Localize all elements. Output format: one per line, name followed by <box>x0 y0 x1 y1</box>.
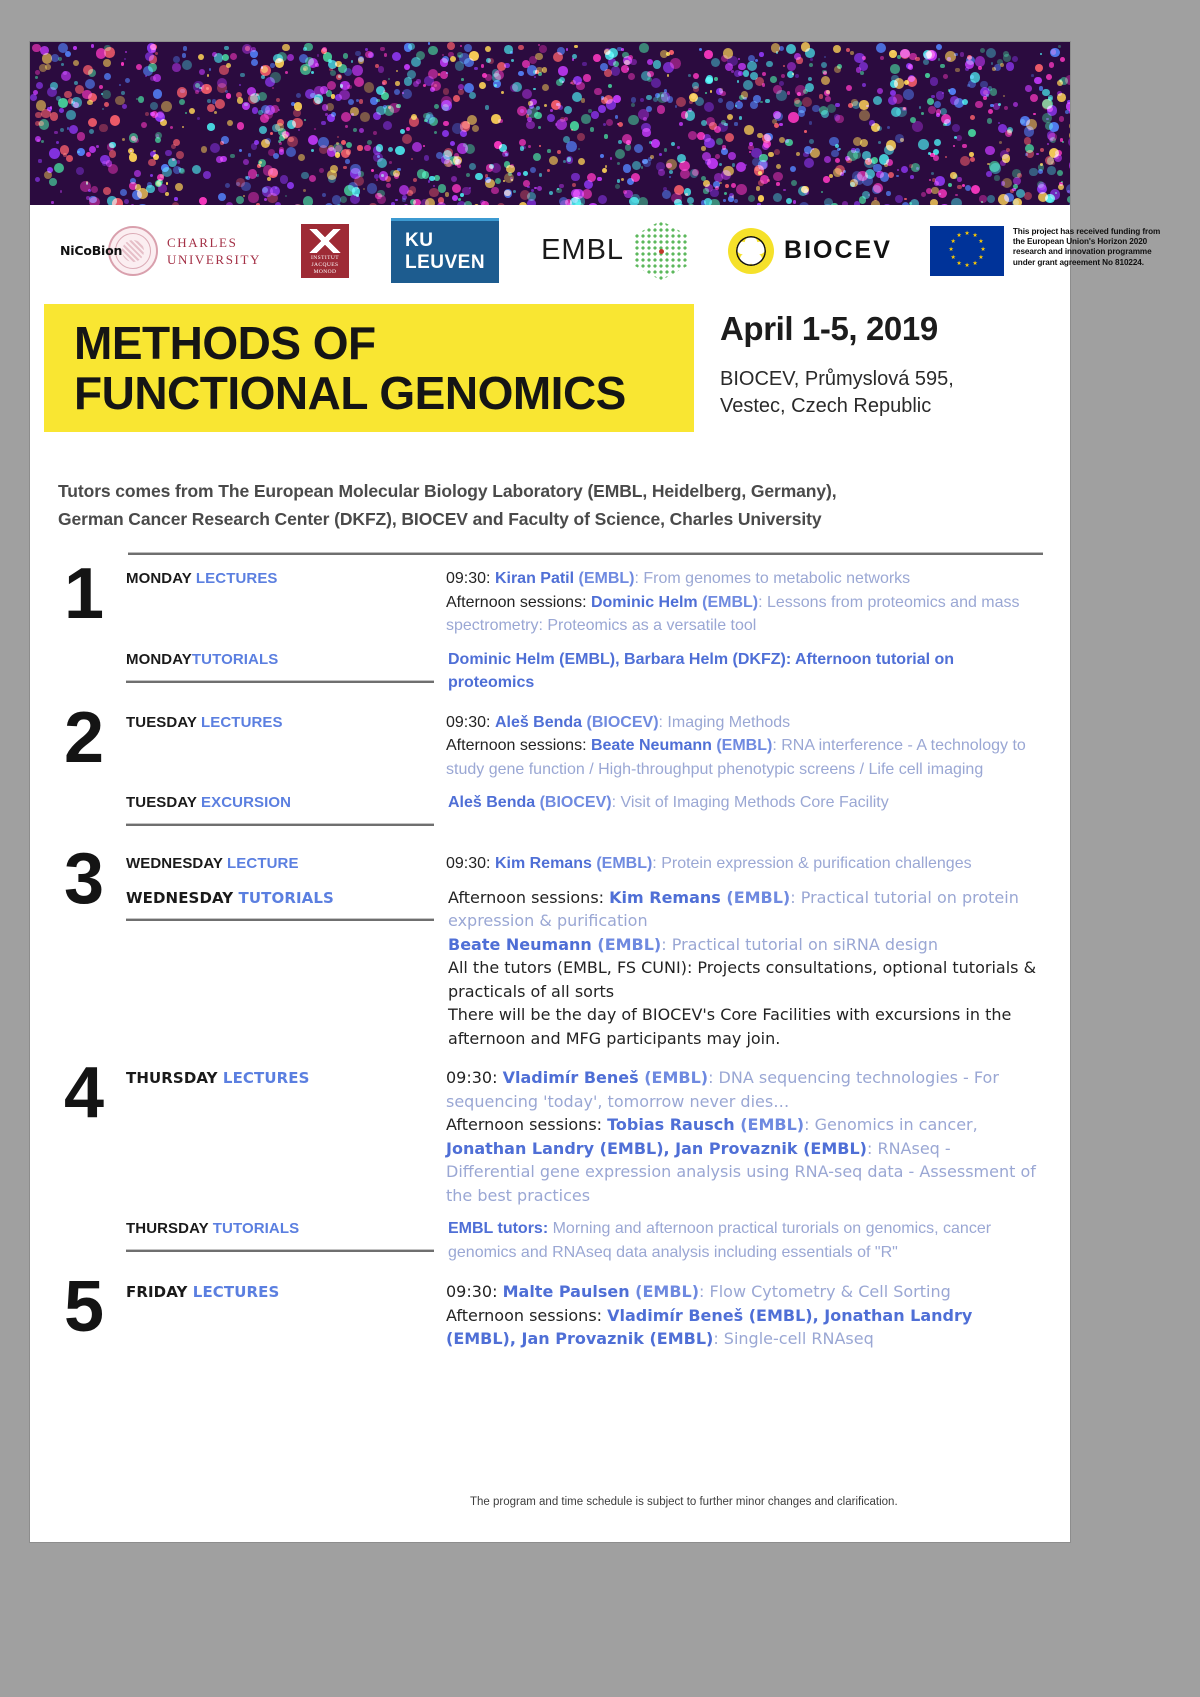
session-kind-label: LECTURES <box>201 714 283 731</box>
monod-mark-icon: INSTITUT JACQUES MONOD <box>301 224 349 278</box>
block-rule <box>126 1249 434 1252</box>
schedule-line: All the tutors (EMBL, FS CUNI): Projects… <box>448 956 1043 1003</box>
schedule-text-span: 09:30: <box>446 855 495 872</box>
schedule-text-span: Afternoon sessions: <box>446 737 591 754</box>
day-name-label: TUESDAY <box>126 794 201 811</box>
biocev-logo-text: BIOCEV <box>784 236 892 265</box>
biocev-logo: BIOCEV <box>728 228 892 274</box>
schedule-line: Dominic Helm (EMBL), Barbara Helm (DKFZ)… <box>448 648 1043 695</box>
schedule-line: Afternoon sessions: Vladimír Beneš (EMBL… <box>446 1304 1043 1351</box>
schedule-day: 3WEDNESDAY LECTURE09:30: Kim Remans (EMB… <box>58 840 1043 1054</box>
microscopy-banner-image <box>30 42 1070 205</box>
schedule-line: Afternoon sessions: Beate Neumann (EMBL)… <box>446 734 1043 781</box>
day-name-label: THURSDAY <box>126 1220 209 1237</box>
schedule-day: 1MONDAY LECTURES09:30: Kiran Patil (EMBL… <box>58 555 1043 699</box>
schedule-line: Afternoon sessions: Tobias Rausch (EMBL)… <box>446 1113 1043 1207</box>
schedule-text-span: Vladimír Beneš <box>503 1068 645 1087</box>
schedule-text-span: : Practical tutorial on siRNA design <box>661 935 938 954</box>
biocev-molecule-icon <box>728 228 774 274</box>
event-venue: BIOCEV, Průmyslová 595, Vestec, Czech Re… <box>720 366 1060 420</box>
schedule-block-body: EMBL tutors: Morning and afternoon pract… <box>448 1211 1043 1264</box>
schedule-text-span: Aleš Benda <box>448 794 540 811</box>
schedule-text-span: Malte Paulsen <box>503 1282 636 1301</box>
schedule-text-span: (EMBL) <box>716 737 772 754</box>
schedule-text-span: : Single-cell RNAseq <box>713 1329 873 1348</box>
schedule-block: THURSDAY LECTURES09:30: Vladimír Beneš (… <box>126 1060 1043 1207</box>
session-kind-label: LECTURES <box>218 1069 310 1087</box>
day-number: 1 <box>58 561 126 699</box>
monod-zigzag-icon <box>305 229 345 253</box>
schedule-text-span: : Flow Cytometry & Cell Sorting <box>699 1282 951 1301</box>
schedule-block-label: THURSDAY LECTURES <box>126 1060 446 1207</box>
schedule-block-label: THURSDAY TUTORIALS <box>126 1211 448 1264</box>
schedule-block: FRIDAY LECTURES09:30: Malte Paulsen (EMB… <box>126 1274 1043 1351</box>
block-rule <box>126 918 434 921</box>
schedule-block-label: FRIDAY LECTURES <box>126 1274 446 1351</box>
schedule-text-span: Afternoon sessions: <box>446 1115 607 1134</box>
day-number: 3 <box>58 846 126 1054</box>
schedule-line: Afternoon sessions: Dominic Helm (EMBL):… <box>446 591 1043 638</box>
charles-university-logo-text: CHARLES UNIVERSITY <box>167 234 261 268</box>
schedule-text-span: EMBL tutors: <box>448 1220 548 1237</box>
schedule-day: 5FRIDAY LECTURES09:30: Malte Paulsen (EM… <box>58 1268 1043 1355</box>
institut-jacques-monod-logo: INSTITUT JACQUES MONOD <box>301 224 349 278</box>
day-name-label: MONDAY <box>126 651 192 668</box>
day-number: 4 <box>58 1060 126 1268</box>
schedule-text-span: All the tutors (EMBL, FS CUNI): Projects… <box>448 958 1036 1001</box>
day-name-label: WEDNESDAY <box>126 855 223 872</box>
schedule-text-span: Afternoon sessions: <box>446 594 591 611</box>
page-title: METHODS OF FUNCTIONAL GENOMICS <box>44 318 626 418</box>
poster-page: NiCoBion CHARLES UNIVERSITY INSTITUT JAC… <box>30 42 1070 1542</box>
schedule-text-span: (EMBL) <box>635 1282 699 1301</box>
schedule-line: 09:30: Kim Remans (EMBL): Protein expres… <box>446 852 1043 876</box>
schedule-block-label: TUESDAY EXCURSION <box>126 785 448 836</box>
schedule-line: Beate Neumann (EMBL): Practical tutorial… <box>448 933 1043 957</box>
block-rule <box>126 680 434 683</box>
eu-funding-logo: ★★★★★★★★★★★★ This project has received f… <box>930 226 1181 276</box>
event-meta: April 1-5, 2019 BIOCEV, Průmyslová 595, … <box>720 310 1060 420</box>
schedule-text-span: (EMBL) <box>644 1068 708 1087</box>
schedule-text-span: 09:30: <box>446 570 495 587</box>
schedule-text-span: : Genomics in cancer, <box>804 1115 978 1134</box>
schedule-block-label: WEDNESDAY LECTURE <box>126 846 446 876</box>
schedule-block-body: 09:30: Malte Paulsen (EMBL): Flow Cytome… <box>446 1274 1043 1351</box>
session-kind-label: LECTURES <box>187 1283 279 1301</box>
schedule-text-span: Dominic Helm <box>591 594 702 611</box>
ku-leuven-logo: KU LEUVEN <box>391 218 499 283</box>
schedule-text-span: Kim Remans <box>609 888 726 907</box>
embl-hexagon-icon <box>634 221 688 281</box>
session-kind-label: TUTORIALS <box>233 889 334 907</box>
event-date: April 1-5, 2019 <box>720 310 1060 348</box>
partner-logo-bar: NiCoBion CHARLES UNIVERSITY INSTITUT JAC… <box>30 205 1070 296</box>
schedule-text-span: : From genomes to metabolic networks <box>635 570 911 587</box>
schedule-block: MONDAY LECTURES09:30: Kiran Patil (EMBL)… <box>126 561 1043 638</box>
embl-logo-text: EMBL <box>541 234 624 267</box>
schedule-block-body: Dominic Helm (EMBL), Barbara Helm (DKFZ)… <box>448 642 1043 695</box>
schedule-text-span: : Imaging Methods <box>659 714 791 731</box>
schedule-block-body: 09:30: Kim Remans (EMBL): Protein expres… <box>446 846 1043 876</box>
schedule-block: WEDNESDAY LECTURE09:30: Kim Remans (EMBL… <box>126 846 1043 876</box>
schedule-text-span: There will be the day of BIOCEV's Core F… <box>448 1005 1011 1048</box>
schedule-day: 2TUESDAY LECTURES09:30: Aleš Benda (BIOC… <box>58 699 1043 841</box>
session-kind-label: EXCURSION <box>201 794 291 811</box>
session-kind-label: LECTURES <box>192 570 278 587</box>
eu-flag-icon: ★★★★★★★★★★★★ <box>930 226 1004 276</box>
embl-logo: EMBL <box>541 221 688 281</box>
schedule-block: TUESDAY EXCURSIONAleš Benda (BIOCEV): Vi… <box>126 785 1043 836</box>
day-number: 2 <box>58 705 126 841</box>
schedule-text-span: (EMBL) <box>726 888 790 907</box>
session-kind-label: TUTORIALS <box>192 651 278 668</box>
schedule-block-label: MONDAYTUTORIALS <box>126 642 448 695</box>
tutors-intro: Tutors comes from The European Molecular… <box>58 477 1018 533</box>
schedule-text-span: Aleš Benda <box>495 714 587 731</box>
schedule-text-span: (BIOCEV) <box>587 714 659 731</box>
schedule-block-label: TUESDAY LECTURES <box>126 705 446 782</box>
schedule-text-span: : Visit of Imaging Methods Core Facility <box>612 794 889 811</box>
schedule-block-label: MONDAY LECTURES <box>126 561 446 638</box>
day-number: 5 <box>58 1274 126 1355</box>
schedule-text-span: Kiran Patil <box>495 570 579 587</box>
eu-funding-text: This project has received funding from t… <box>1013 226 1181 269</box>
session-kind-label: LECTURE <box>223 855 299 872</box>
schedule-block-body: 09:30: Aleš Benda (BIOCEV): Imaging Meth… <box>446 705 1043 782</box>
schedule-block-body: 09:30: Kiran Patil (EMBL): From genomes … <box>446 561 1043 638</box>
schedule-block: WEDNESDAY TUTORIALSAfternoon sessions: K… <box>126 880 1043 1051</box>
footer-disclaimer: The program and time schedule is subject… <box>470 1494 1030 1510</box>
ku-leuven-logo-text: KU LEUVEN <box>405 230 485 274</box>
schedule-text-span: Afternoon sessions: <box>448 888 609 907</box>
schedule-text-span: (EMBL) <box>579 570 635 587</box>
schedule-block-body: Aleš Benda (BIOCEV): Visit of Imaging Me… <box>448 785 1043 836</box>
charles-university-logo: CHARLES UNIVERSITY <box>108 226 261 276</box>
schedule-text-span: 09:30: <box>446 1068 503 1087</box>
schedule-text-span: (EMBL) <box>740 1115 804 1134</box>
schedule-line: 09:30: Aleš Benda (BIOCEV): Imaging Meth… <box>446 711 1043 735</box>
schedule-day: 4THURSDAY LECTURES09:30: Vladimír Beneš … <box>58 1054 1043 1268</box>
block-rule <box>126 823 434 826</box>
poster-root: NiCoBion CHARLES UNIVERSITY INSTITUT JAC… <box>0 0 1200 1697</box>
schedule-text-span: 09:30: <box>446 1282 503 1301</box>
schedule-line: 09:30: Kiran Patil (EMBL): From genomes … <box>446 567 1043 591</box>
schedule-line: EMBL tutors: Morning and afternoon pract… <box>448 1217 1043 1264</box>
day-name-label: THURSDAY <box>126 1069 218 1087</box>
schedule-block-body: Afternoon sessions: Kim Remans (EMBL): P… <box>448 880 1043 1051</box>
schedule-block: THURSDAY TUTORIALSEMBL tutors: Morning a… <box>126 1211 1043 1264</box>
day-name-label: TUESDAY <box>126 714 201 731</box>
title-band: METHODS OF FUNCTIONAL GENOMICS <box>44 304 694 432</box>
schedule-text-span: Dominic Helm (EMBL), Barbara Helm (DKFZ)… <box>448 651 954 692</box>
schedule-text-span: Afternoon sessions: <box>446 1306 607 1325</box>
day-name-label: MONDAY <box>126 570 192 587</box>
schedule-text-span: (EMBL) <box>597 935 661 954</box>
schedule-text-span: (EMBL) <box>702 594 758 611</box>
session-kind-label: TUTORIALS <box>209 1220 300 1237</box>
schedule-text-span: Beate Neumann <box>591 737 716 754</box>
schedule-line: 09:30: Vladimír Beneš (EMBL): DNA sequen… <box>446 1066 1043 1113</box>
schedule-text-span: (EMBL) <box>596 855 652 872</box>
schedule-block: TUESDAY LECTURES09:30: Aleš Benda (BIOCE… <box>126 705 1043 782</box>
schedule-block-label: WEDNESDAY TUTORIALS <box>126 880 448 1051</box>
schedule-text-span: Tobias Rausch <box>607 1115 740 1134</box>
schedule-text-span: Beate Neumann <box>448 935 597 954</box>
schedule-line: Aleš Benda (BIOCEV): Visit of Imaging Me… <box>448 791 1043 815</box>
schedule-line: Afternoon sessions: Kim Remans (EMBL): P… <box>448 886 1043 933</box>
schedule-block-body: 09:30: Vladimír Beneš (EMBL): DNA sequen… <box>446 1060 1043 1207</box>
schedule-list: 1MONDAY LECTURES09:30: Kiran Patil (EMBL… <box>58 552 1043 1355</box>
schedule-text-span: : Protein expression & purification chal… <box>652 855 971 872</box>
schedule-block: MONDAYTUTORIALSDominic Helm (EMBL), Barb… <box>126 642 1043 695</box>
day-name-label: FRIDAY <box>126 1283 187 1301</box>
day-name-label: WEDNESDAY <box>126 889 233 907</box>
schedule-text-span: Jonathan Landry (EMBL), Jan Provaznik (E… <box>446 1139 867 1158</box>
schedule-line: There will be the day of BIOCEV's Core F… <box>448 1003 1043 1050</box>
monod-logo-text: INSTITUT JACQUES MONOD <box>301 255 349 276</box>
schedule-line: 09:30: Malte Paulsen (EMBL): Flow Cytome… <box>446 1280 1043 1304</box>
schedule-text-span: Kim Remans <box>495 855 596 872</box>
schedule-text-span: (BIOCEV) <box>540 794 612 811</box>
schedule-text-span: 09:30: <box>446 714 495 731</box>
